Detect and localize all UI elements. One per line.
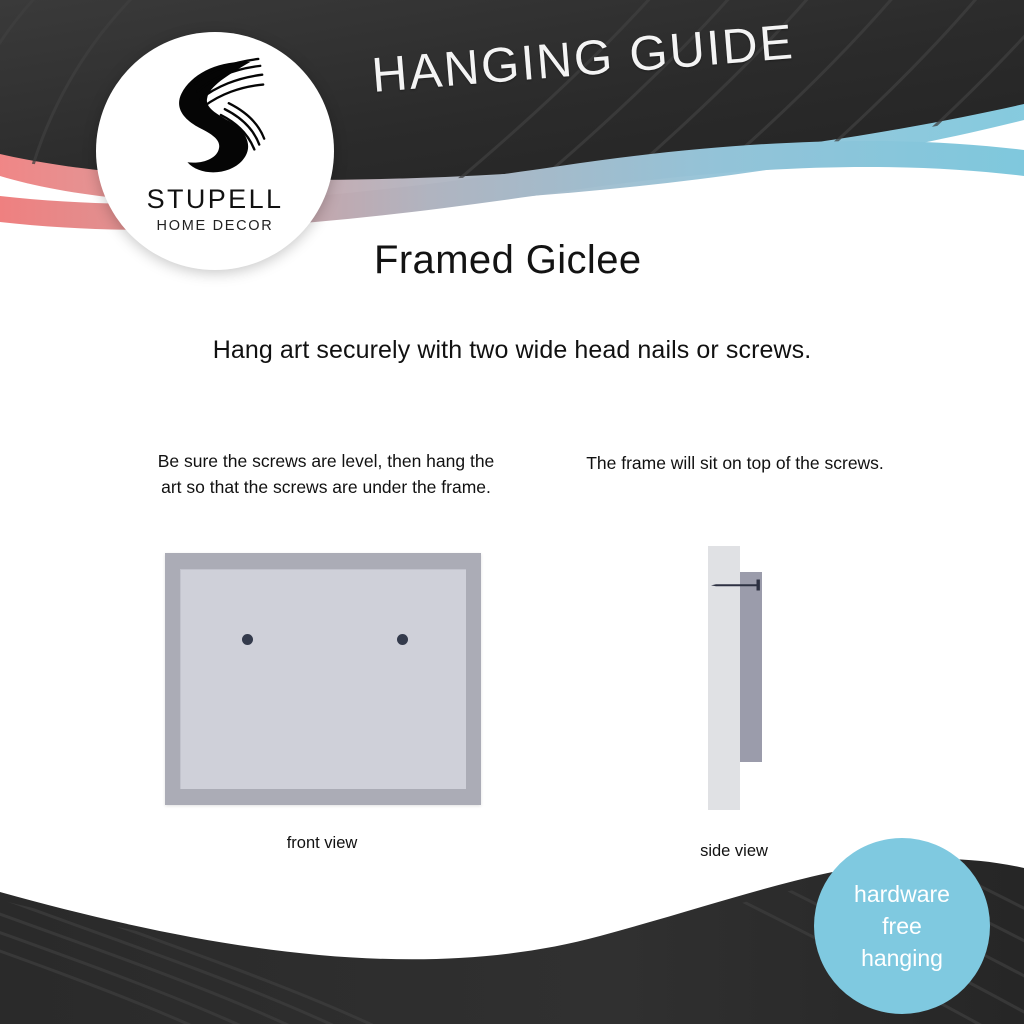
screw-dot-left	[242, 634, 253, 645]
nail-icon	[710, 578, 768, 592]
hanging-guide-page: STUPELL HOME DECOR HANGING GUIDE Framed …	[0, 0, 1024, 1024]
lead-instruction-text: Hang art securely with two wide head nai…	[0, 336, 1024, 365]
badge-line-2: free	[882, 910, 922, 942]
front-view-caption: Be sure the screws are level, then hang …	[146, 448, 506, 500]
front-view-diagram	[165, 553, 481, 805]
brand-name: STUPELL	[147, 184, 284, 215]
brand-tagline: HOME DECOR	[157, 218, 274, 234]
hardware-free-hanging-badge: hardware free hanging	[814, 838, 990, 1014]
badge-line-3: hanging	[861, 942, 943, 974]
brand-logo-badge: STUPELL HOME DECOR	[96, 32, 334, 270]
front-view-label: front view	[202, 834, 442, 853]
badge-line-1: hardware	[854, 878, 950, 910]
picture-frame-border	[165, 553, 481, 805]
side-view-diagram	[708, 546, 788, 814]
side-view-caption: The frame will sit on top of the screws.	[585, 450, 885, 476]
side-view-label: side view	[634, 842, 834, 861]
stupell-s-swoosh-logo-icon	[156, 54, 274, 180]
product-type-title: Framed Giclee	[374, 238, 642, 283]
picture-frame-mat	[180, 569, 466, 789]
screw-dot-right	[397, 634, 408, 645]
frame-cross-section	[740, 572, 762, 762]
